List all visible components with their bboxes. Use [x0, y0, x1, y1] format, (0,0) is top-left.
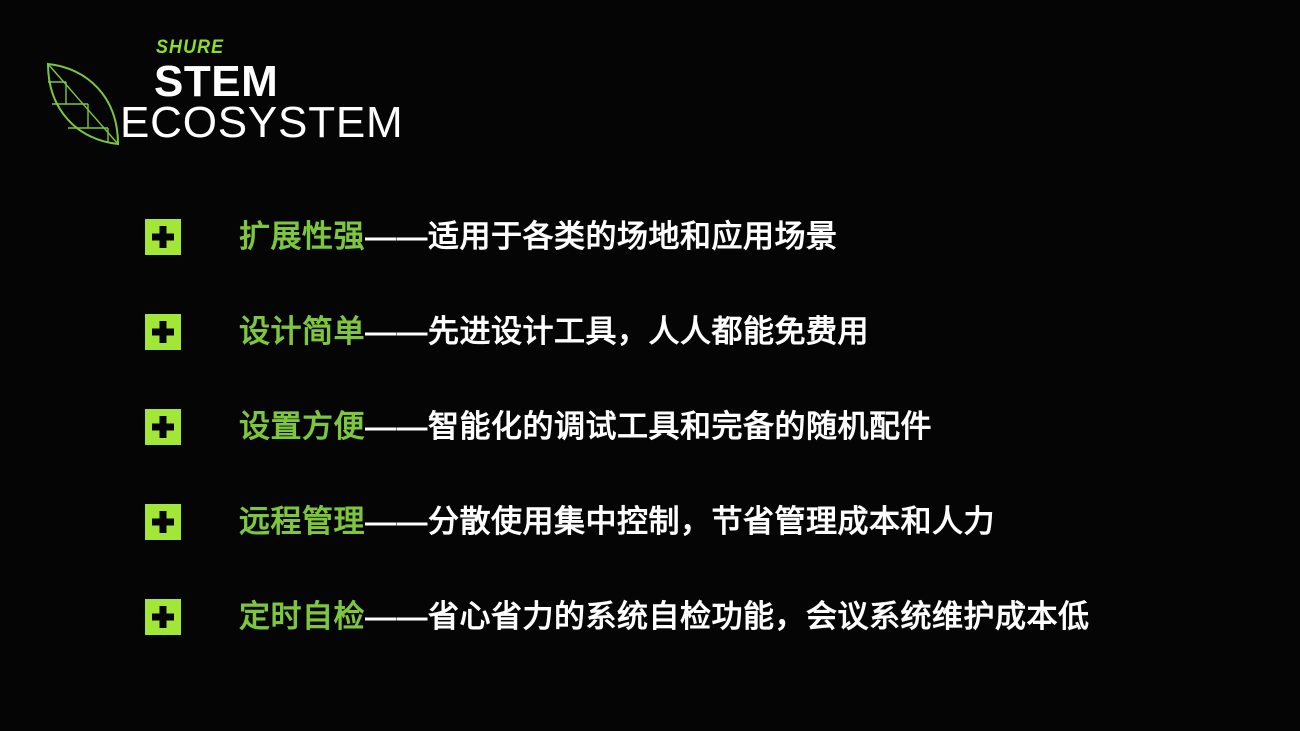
bullet-text: 远程管理——分散使用集中控制，节省管理成本和人力	[239, 504, 1265, 540]
list-item: 设计简单——先进设计工具，人人都能免费用	[145, 309, 1265, 355]
bullet-description: 先进设计工具，人人都能免费用	[428, 314, 869, 349]
bullet-description: 适用于各类的场地和应用场景	[428, 219, 838, 254]
logo-wordmark: SHURE STEM ECOSYSTEM	[120, 38, 420, 146]
brand-logo: SHURE STEM ECOSYSTEM	[42, 38, 372, 150]
bullet-description: 省心省力的系统自检功能，会议系统维护成本低	[428, 599, 1090, 634]
list-item: 扩展性强——适用于各类的场地和应用场景	[145, 214, 1265, 260]
bullet-text: 扩展性强——适用于各类的场地和应用场景	[239, 219, 1265, 255]
bullet-dash: ——	[365, 504, 428, 539]
feature-bullet-list: 扩展性强——适用于各类的场地和应用场景 设计简单——先进设计工具，人人都能免费用…	[145, 214, 1265, 640]
bullet-keyword: 设计简单	[239, 314, 365, 349]
plus-square-icon	[145, 599, 181, 635]
plus-square-icon	[145, 409, 181, 445]
bullet-keyword: 设置方便	[239, 409, 365, 444]
bullet-description: 智能化的调试工具和完备的随机配件	[428, 409, 932, 444]
bullet-dash: ——	[365, 409, 428, 444]
logo-line-ecosystem: ECOSYSTEM	[120, 101, 420, 146]
plus-square-icon	[145, 219, 181, 255]
plus-square-icon	[145, 504, 181, 540]
list-item: 设置方便——智能化的调试工具和完备的随机配件	[145, 404, 1265, 450]
bullet-dash: ——	[365, 599, 428, 634]
presentation-slide: SHURE STEM ECOSYSTEM 扩展性强——适用于各类的场地和应用场景	[0, 0, 1300, 731]
bullet-text: 设计简单——先进设计工具，人人都能免费用	[239, 314, 1265, 350]
bullet-keyword: 定时自检	[239, 599, 365, 634]
list-item: 远程管理——分散使用集中控制，节省管理成本和人力	[145, 499, 1265, 545]
bullet-text: 设置方便——智能化的调试工具和完备的随机配件	[239, 409, 1265, 445]
logo-line-stem: STEM	[154, 60, 420, 103]
bullet-dash: ——	[365, 219, 428, 254]
bullet-keyword: 远程管理	[239, 504, 365, 539]
plus-square-icon	[145, 314, 181, 350]
bullet-dash: ——	[365, 314, 428, 349]
bullet-description: 分散使用集中控制，节省管理成本和人力	[428, 504, 995, 539]
leaf-icon	[42, 58, 124, 150]
list-item: 定时自检——省心省力的系统自检功能，会议系统维护成本低	[145, 594, 1265, 640]
bullet-text: 定时自检——省心省力的系统自检功能，会议系统维护成本低	[239, 599, 1265, 635]
shure-brand-text: SHURE	[156, 38, 404, 57]
bullet-keyword: 扩展性强	[239, 219, 365, 254]
